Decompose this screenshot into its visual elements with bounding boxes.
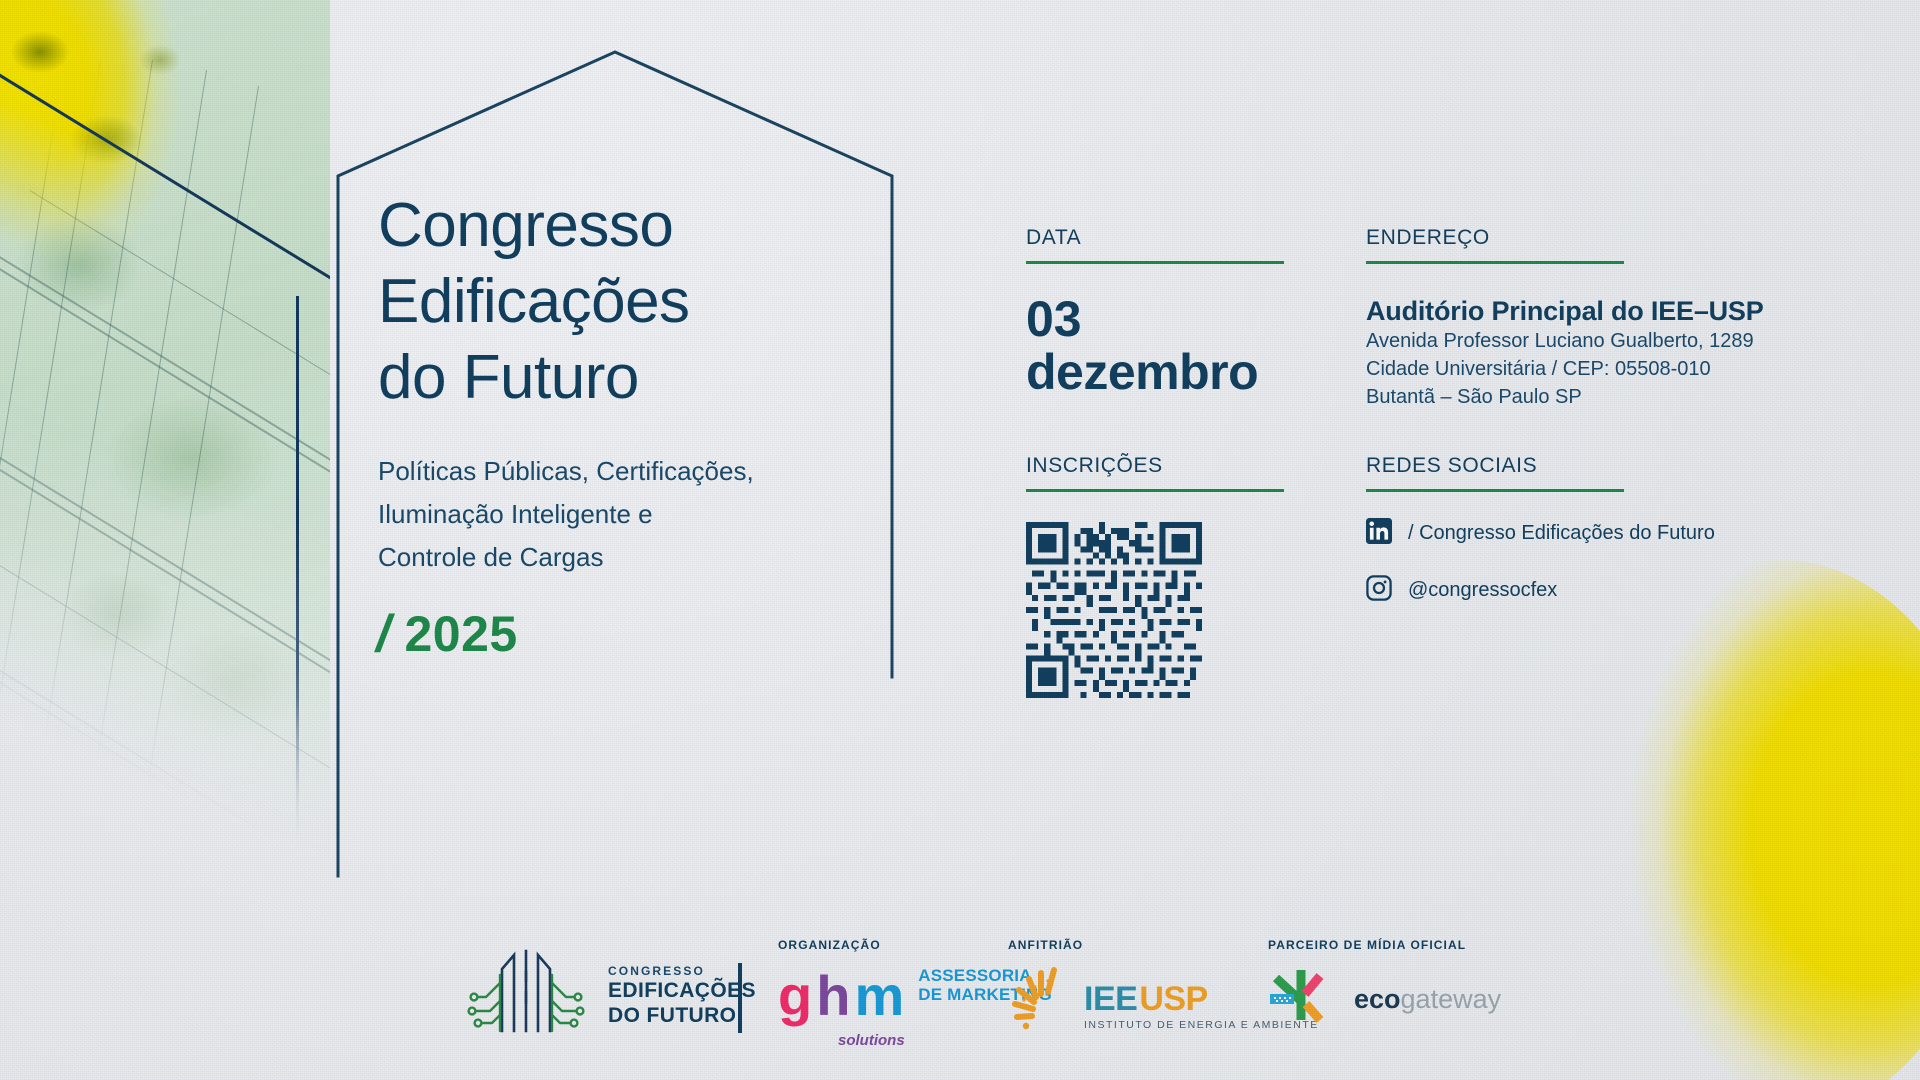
linkedin-icon — [1366, 518, 1392, 549]
eco-text: eco — [1354, 984, 1401, 1015]
ghm-letter-h: h — [816, 972, 850, 1020]
page-title: Congresso Edificações do Futuro — [378, 188, 690, 416]
year-value: 2025 — [404, 609, 517, 659]
inscricoes-rule — [1026, 489, 1284, 492]
event-logo-line1: CONGRESSO — [608, 964, 756, 978]
data-label: DATA — [1026, 226, 1288, 250]
title-line-2: Edificações — [378, 264, 690, 340]
year-slash: / — [376, 608, 390, 660]
redes-sociais-rule — [1366, 489, 1624, 492]
title-line-1: Congresso — [378, 188, 690, 264]
endereco-rule — [1366, 261, 1624, 264]
ghm-letter-m: m — [854, 972, 904, 1020]
section-inscricoes: INSCRIÇÕES — [1026, 454, 1288, 698]
building-circuit-icon — [462, 945, 590, 1046]
page-subtitle: Políticas Públicas, Certificações, Ilumi… — [378, 450, 754, 579]
poster-canvas: Congresso Edificações do Futuro Política… — [0, 0, 1920, 1080]
ghm-letter-g: g — [778, 972, 812, 1020]
subtitle-line-3: Controle de Cargas — [378, 536, 754, 579]
subtitle-line-2: Iluminação Inteligente e — [378, 493, 754, 536]
subtitle-line-1: Políticas Públicas, Certificações, — [378, 450, 754, 493]
iee-text: IEE — [1084, 980, 1137, 1019]
ecogateway-mark-icon — [1268, 966, 1334, 1033]
data-rule — [1026, 261, 1284, 264]
ghm-solutions-text: solutions — [838, 1032, 905, 1049]
event-logo-line3: DO FUTURO — [608, 1003, 756, 1028]
event-year: / 2025 — [376, 608, 518, 660]
gateway-text: gateway — [1401, 984, 1502, 1015]
social-link-instagram[interactable]: @congressocfex — [1366, 575, 1796, 606]
building-right-edge — [296, 296, 299, 856]
event-day: 03 — [1026, 294, 1288, 344]
ghm-wordmark: g h m — [778, 972, 904, 1020]
venue-name: Auditório Principal do IEE–USP — [1366, 296, 1796, 327]
event-month: dezembro — [1026, 344, 1288, 400]
section-redes-sociais: REDES SOCIAIS / Congresso Edificações do… — [1366, 454, 1796, 606]
section-endereco: ENDEREÇO Auditório Principal do IEE–USP … — [1366, 226, 1796, 411]
social-link-linkedin[interactable]: / Congresso Edificações do Futuro — [1366, 518, 1796, 549]
partner-eco-caption: PARCEIRO DE MÍDIA OFICIAL — [1268, 938, 1501, 952]
glass-building-photo — [0, 0, 330, 880]
section-data: DATA 03 dezembro — [1026, 226, 1288, 400]
partner-ecogateway: PARCEIRO DE MÍDIA OFICIAL — [1268, 938, 1501, 1033]
address-line-1: Avenida Professor Luciano Gualberto, 128… — [1366, 327, 1796, 355]
inscricoes-label: INSCRIÇÕES — [1026, 454, 1288, 478]
event-logo-line2: EDIFICAÇÕES — [608, 978, 756, 1003]
qr-code[interactable] — [1026, 522, 1202, 698]
house-outline-shape — [330, 0, 900, 880]
instagram-handle: @congressocfex — [1408, 579, 1557, 602]
event-logo-text: CONGRESSO EDIFICAÇÕES DO FUTURO — [608, 964, 756, 1028]
address-line-3: Butantã – São Paulo SP — [1366, 383, 1796, 411]
usp-text: USP — [1139, 980, 1207, 1019]
sunburst-icon — [1008, 964, 1080, 1035]
address-line-2: Cidade Universitária / CEP: 05508-010 — [1366, 355, 1796, 383]
yellow-accent-blob — [1570, 560, 1920, 1080]
linkedin-handle: / Congresso Edificações do Futuro — [1408, 522, 1715, 545]
endereco-label: ENDEREÇO — [1366, 226, 1796, 250]
event-logo: CONGRESSO EDIFICAÇÕES DO FUTURO — [462, 945, 756, 1046]
title-line-3: do Futuro — [378, 340, 690, 416]
instagram-icon — [1366, 575, 1392, 606]
redes-sociais-label: REDES SOCIAIS — [1366, 454, 1796, 478]
